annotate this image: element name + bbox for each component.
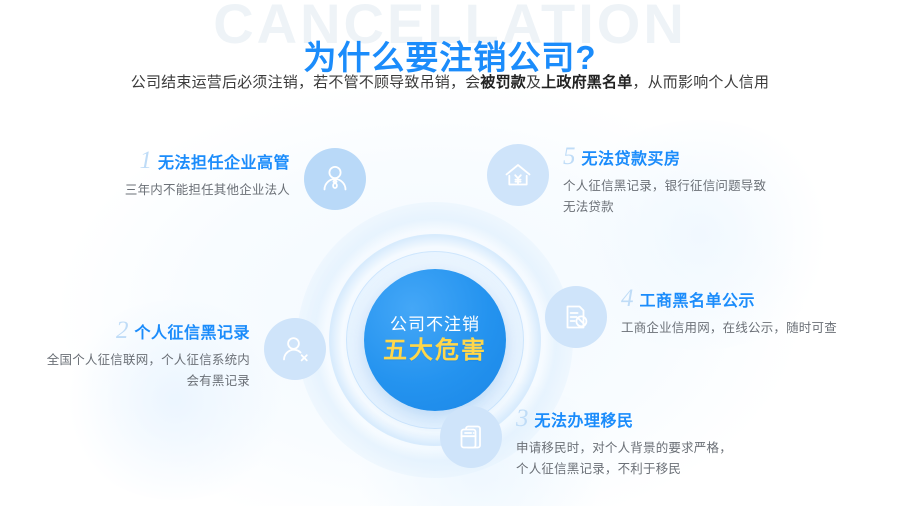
hazard-item-4-text: 4 工商黑名单公示 工商企业信用网，在线公示，随时可查	[607, 286, 837, 339]
hazard-item-5-heading: 5 无法贷款买房	[563, 144, 766, 169]
hazard-item-3-number: 3	[516, 406, 529, 431]
hub-circle: 公司不注销 五大危害	[364, 269, 506, 411]
hazard-item-2-text: 2 个人征信黑记录 全国个人征信联网，个人征信系统内 会有黑记录	[14, 318, 264, 391]
document-blocked-icon	[545, 286, 607, 348]
subtitle-bold-1: 被罚款	[480, 74, 526, 91]
subtitle-segment-2: 及	[526, 74, 541, 91]
hazard-item-3-description: 申请移民时，对个人背景的要求严格， 个人征信黑记录，不利于移民	[516, 438, 732, 479]
hazard-item-3-title: 无法办理移民	[535, 413, 634, 431]
infographic-canvas: CANCELLATION 为什么要注销公司? 公司结束运营后必须注销，若不管不顾…	[0, 0, 900, 506]
hazard-item-2[interactable]: 2 个人征信黑记录 全国个人征信联网，个人征信系统内 会有黑记录	[14, 318, 326, 391]
house-yuan-icon	[487, 144, 549, 206]
hazard-item-2-title: 个人征信黑记录	[134, 325, 250, 343]
hazard-item-2-heading: 2 个人征信黑记录	[14, 318, 250, 343]
hazard-item-1-number: 1	[139, 148, 152, 173]
hazard-item-5-text: 5 无法贷款买房 个人征信黑记录，银行征信问题导致 无法贷款	[549, 144, 766, 217]
person-tie-icon	[304, 148, 366, 210]
person-remove-icon	[264, 318, 326, 380]
hazard-item-5-title: 无法贷款买房	[582, 151, 681, 169]
subtitle-segment-3: ，从而影响个人信用	[632, 74, 769, 91]
hazard-item-1[interactable]: 1 无法担任企业高管 三年内不能担任其他企业法人	[94, 148, 366, 210]
hazard-item-3-heading: 3 无法办理移民	[516, 406, 732, 431]
hub-headline-bottom: 五大危害	[383, 337, 487, 366]
hazard-item-2-description: 全国个人征信联网，个人征信系统内 会有黑记录	[14, 350, 250, 391]
hazard-item-4-title: 工商黑名单公示	[640, 293, 756, 311]
hazard-item-5-description: 个人征信黑记录，银行征信问题导致 无法贷款	[563, 176, 766, 217]
passport-book-icon	[440, 406, 502, 468]
hazard-item-3-text: 3 无法办理移民 申请移民时，对个人背景的要求严格， 个人征信黑记录，不利于移民	[502, 406, 732, 479]
hazard-item-4-number: 4	[621, 286, 634, 311]
subtitle-bold-2: 上政府黑名单	[541, 74, 632, 91]
hazard-item-5[interactable]: 5 无法贷款买房 个人征信黑记录，银行征信问题导致 无法贷款	[487, 144, 766, 217]
hazard-item-1-title: 无法担任企业高管	[158, 155, 290, 173]
hazard-item-2-number: 2	[116, 318, 129, 343]
page-subtitle: 公司结束运营后必须注销，若不管不顾导致吊销，会被罚款及上政府黑名单，从而影响个人…	[0, 72, 900, 95]
hazard-item-1-text: 1 无法担任企业高管 三年内不能担任其他企业法人	[94, 148, 304, 201]
hazard-item-3[interactable]: 3 无法办理移民 申请移民时，对个人背景的要求严格， 个人征信黑记录，不利于移民	[440, 406, 732, 479]
hazard-item-4-heading: 4 工商黑名单公示	[621, 286, 837, 311]
hazard-item-4-description: 工商企业信用网，在线公示，随时可查	[621, 318, 837, 339]
hazard-item-5-number: 5	[563, 144, 576, 169]
hazard-item-4[interactable]: 4 工商黑名单公示 工商企业信用网，在线公示，随时可查	[545, 286, 837, 348]
hub-headline-top: 公司不注销	[390, 314, 480, 335]
subtitle-segment-1: 公司结束运营后必须注销，若不管不顾导致吊销，会	[131, 74, 481, 91]
hazard-item-1-description: 三年内不能担任其他企业法人	[94, 180, 290, 201]
hazard-item-1-heading: 1 无法担任企业高管	[94, 148, 290, 173]
